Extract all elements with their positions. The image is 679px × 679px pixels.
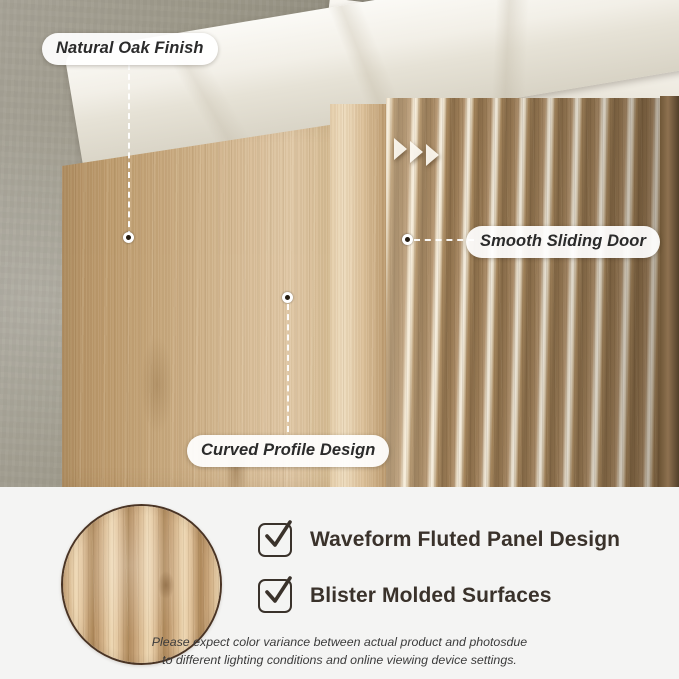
- check-icon: [258, 579, 292, 613]
- product-feature-image: Natural Oak Finish Smooth Sliding Door C…: [0, 0, 679, 679]
- feature-label: Waveform Fluted Panel Design: [310, 528, 620, 552]
- corner-grain: [330, 104, 390, 487]
- feature-list: Waveform Fluted Panel Design Blister Mol…: [258, 523, 620, 635]
- callout-curved-profile-design[interactable]: Curved Profile Design: [187, 435, 389, 467]
- callout-marker-sliding-door: [402, 234, 413, 245]
- callout-line-curved-profile: [287, 304, 289, 432]
- feature-panel: Waveform Fluted Panel Design Blister Mol…: [0, 487, 679, 679]
- feature-item: Blister Molded Surfaces: [258, 579, 620, 613]
- disclaimer-line-1: Please expect color variance between act…: [0, 633, 679, 651]
- cabinet-curved-corner: [330, 104, 390, 487]
- callout-marker-curved-profile: [282, 292, 293, 303]
- callout-smooth-sliding-door[interactable]: Smooth Sliding Door: [466, 226, 660, 258]
- product-photo: Natural Oak Finish Smooth Sliding Door C…: [0, 0, 679, 487]
- cabinet-side-panel: [62, 120, 362, 487]
- callout-line-natural-oak: [128, 64, 130, 237]
- callout-natural-oak-finish[interactable]: Natural Oak Finish: [42, 33, 218, 65]
- feature-item: Waveform Fluted Panel Design: [258, 523, 620, 557]
- cabinet-right-edge: [660, 96, 679, 487]
- wood-knot-secondary: [122, 310, 192, 460]
- chevron-right-triple-icon: [394, 132, 464, 172]
- disclaimer-text: Please expect color variance between act…: [0, 633, 679, 670]
- callout-line-sliding-door: [414, 239, 474, 241]
- disclaimer-line-2: to different lighting conditions and onl…: [0, 651, 679, 669]
- check-icon: [258, 523, 292, 557]
- callout-marker-natural-oak: [123, 232, 134, 243]
- feature-label: Blister Molded Surfaces: [310, 584, 552, 608]
